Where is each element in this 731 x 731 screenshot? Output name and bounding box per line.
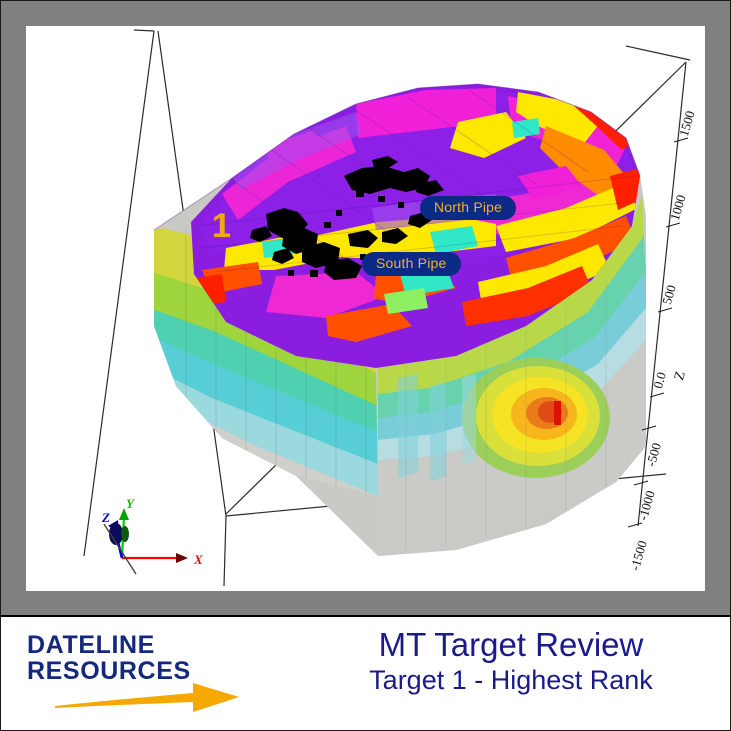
slide-footer: DATELINE RESOURCES MT Target Review Targ…: [1, 618, 730, 730]
target-number-label: 1: [212, 209, 231, 243]
triad-y-label: Y: [126, 496, 134, 512]
slide-subtitle: Target 1 - Highest Rank: [301, 664, 721, 696]
label-north-pipe[interactable]: North Pipe: [420, 196, 516, 220]
orientation-triad: [104, 508, 188, 574]
triad-z-label: Z: [102, 510, 110, 526]
figure-frame: 1500 1000 500 0.0 -500 -1000 -1500 Z X Y…: [1, 1, 730, 617]
slide-root: 1500 1000 500 0.0 -500 -1000 -1500 Z X Y…: [0, 0, 731, 731]
slide-title: MT Target Review: [301, 626, 721, 664]
logo-line-1: DATELINE: [27, 632, 277, 658]
company-logo: DATELINE RESOURCES: [27, 632, 277, 685]
conductivity-anomaly: [462, 358, 610, 478]
label-south-pipe[interactable]: South Pipe: [362, 252, 461, 276]
figure-canvas: 1500 1000 500 0.0 -500 -1000 -1500 Z X Y…: [26, 26, 705, 591]
logo-arrow-icon: [53, 680, 243, 714]
triad-x-label: X: [194, 552, 203, 568]
footer-titles: MT Target Review Target 1 - Highest Rank: [301, 626, 721, 696]
